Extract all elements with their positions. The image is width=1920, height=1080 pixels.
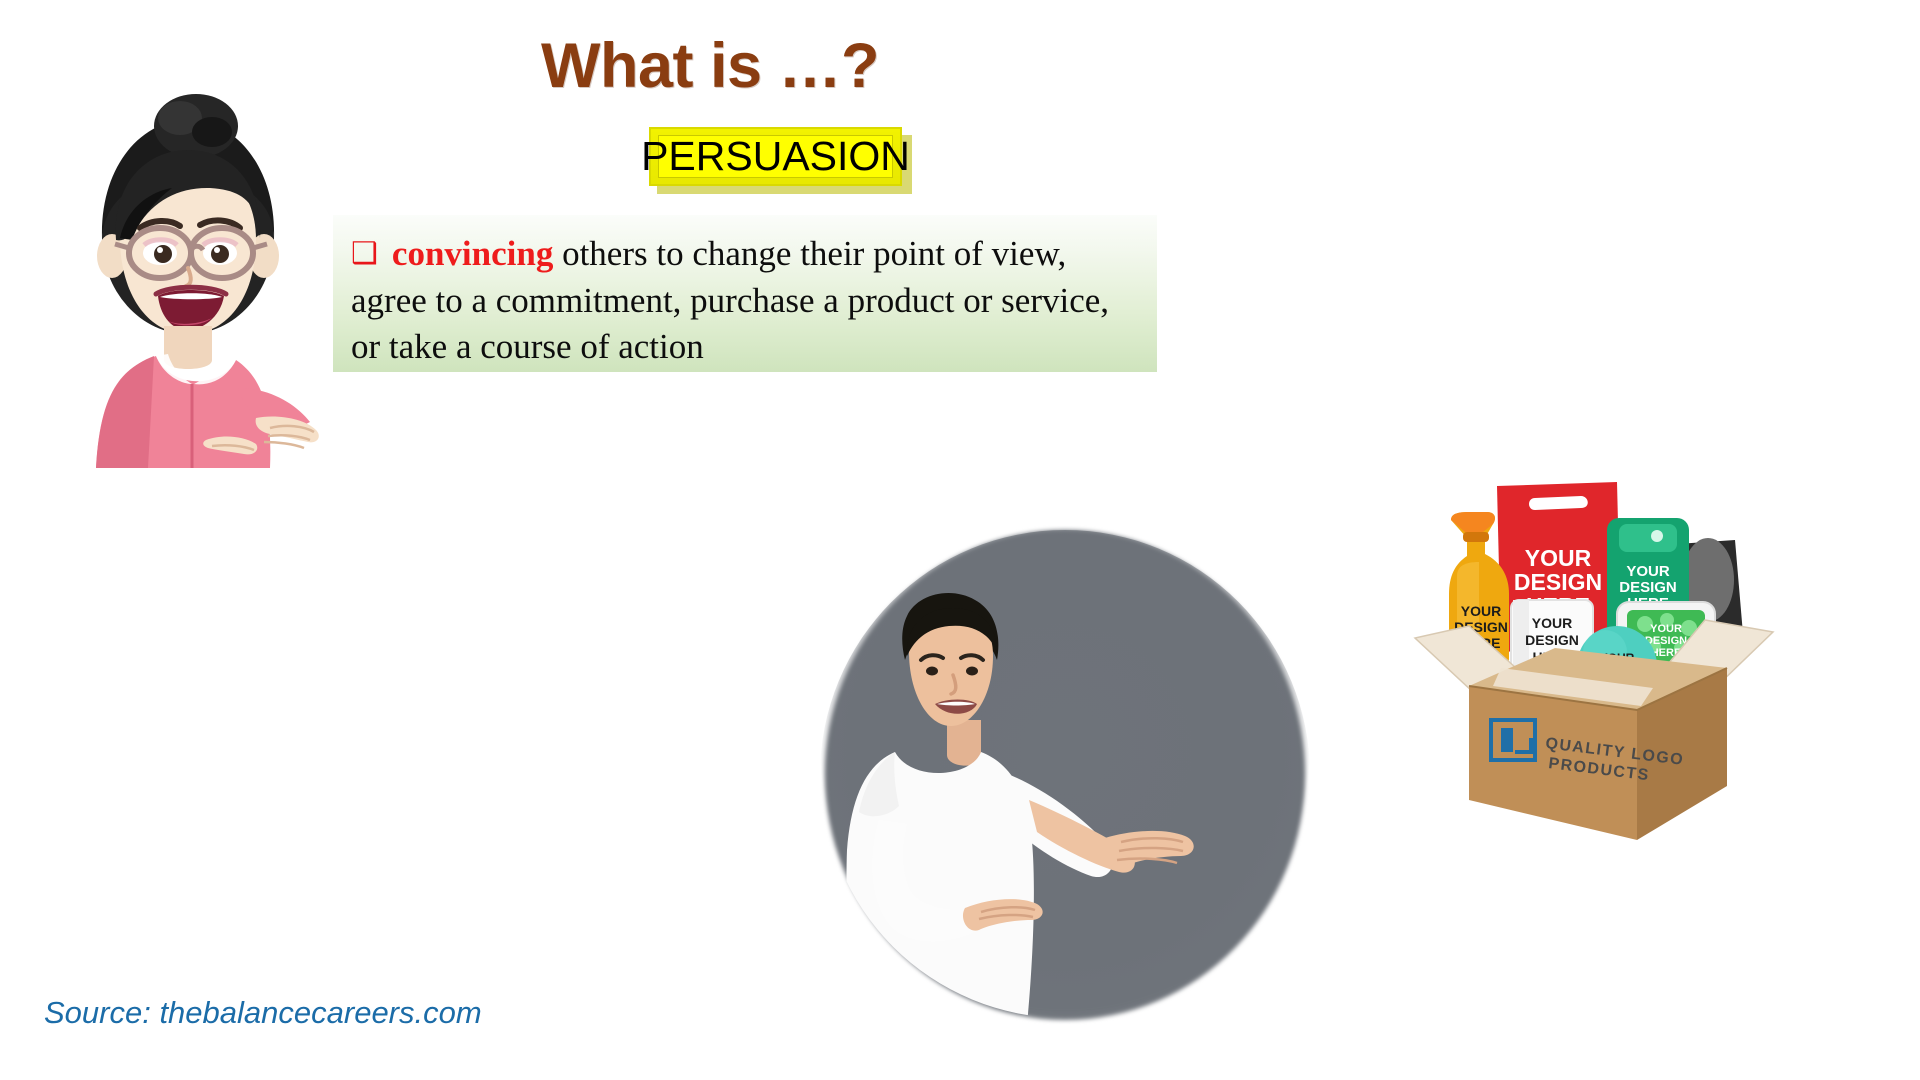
svg-text:YOUR: YOUR [1525, 545, 1592, 571]
persuasion-label: PERSUASION [641, 136, 910, 177]
persuasion-box-fill: PERSUASION [658, 135, 893, 178]
promotional-products-box: YOUR DESIGN HERE YOUR DESIGN HERE [1405, 470, 1805, 870]
definition-callout-box: ❑convincing others to change their point… [333, 215, 1157, 372]
checkbox-bullet-icon: ❑ [351, 236, 378, 271]
man-presenting-photo [775, 520, 1375, 1080]
page-title: What is …? [400, 30, 1020, 102]
svg-text:YOUR: YOUR [1532, 615, 1572, 631]
persuasion-highlight-box: PERSUASION [649, 127, 912, 194]
avatar-hair-bun [154, 94, 238, 158]
svg-text:DESIGN: DESIGN [1514, 569, 1602, 595]
svg-text:YOUR: YOUR [1626, 563, 1670, 580]
definition-keyword: convincing [392, 234, 553, 273]
slide-canvas: What is …? PERSUASION ❑convincing others… [0, 0, 1920, 1080]
svg-text:YOUR: YOUR [1650, 623, 1682, 635]
definition-text-block: ❑convincing others to change their point… [351, 231, 1143, 371]
svg-text:DESIGN: DESIGN [1525, 632, 1579, 648]
source-attribution: Source: thebalancecareers.com [44, 995, 482, 1031]
cardboard-box: QUALITY LOGO PRODUCTS [1415, 620, 1773, 840]
bitmoji-teacher-avatar [60, 88, 330, 468]
svg-text:DESIGN: DESIGN [1645, 635, 1687, 647]
persuasion-box-frame: PERSUASION [649, 127, 902, 186]
svg-text:YOUR: YOUR [1461, 603, 1501, 619]
svg-text:DESIGN: DESIGN [1619, 579, 1677, 596]
